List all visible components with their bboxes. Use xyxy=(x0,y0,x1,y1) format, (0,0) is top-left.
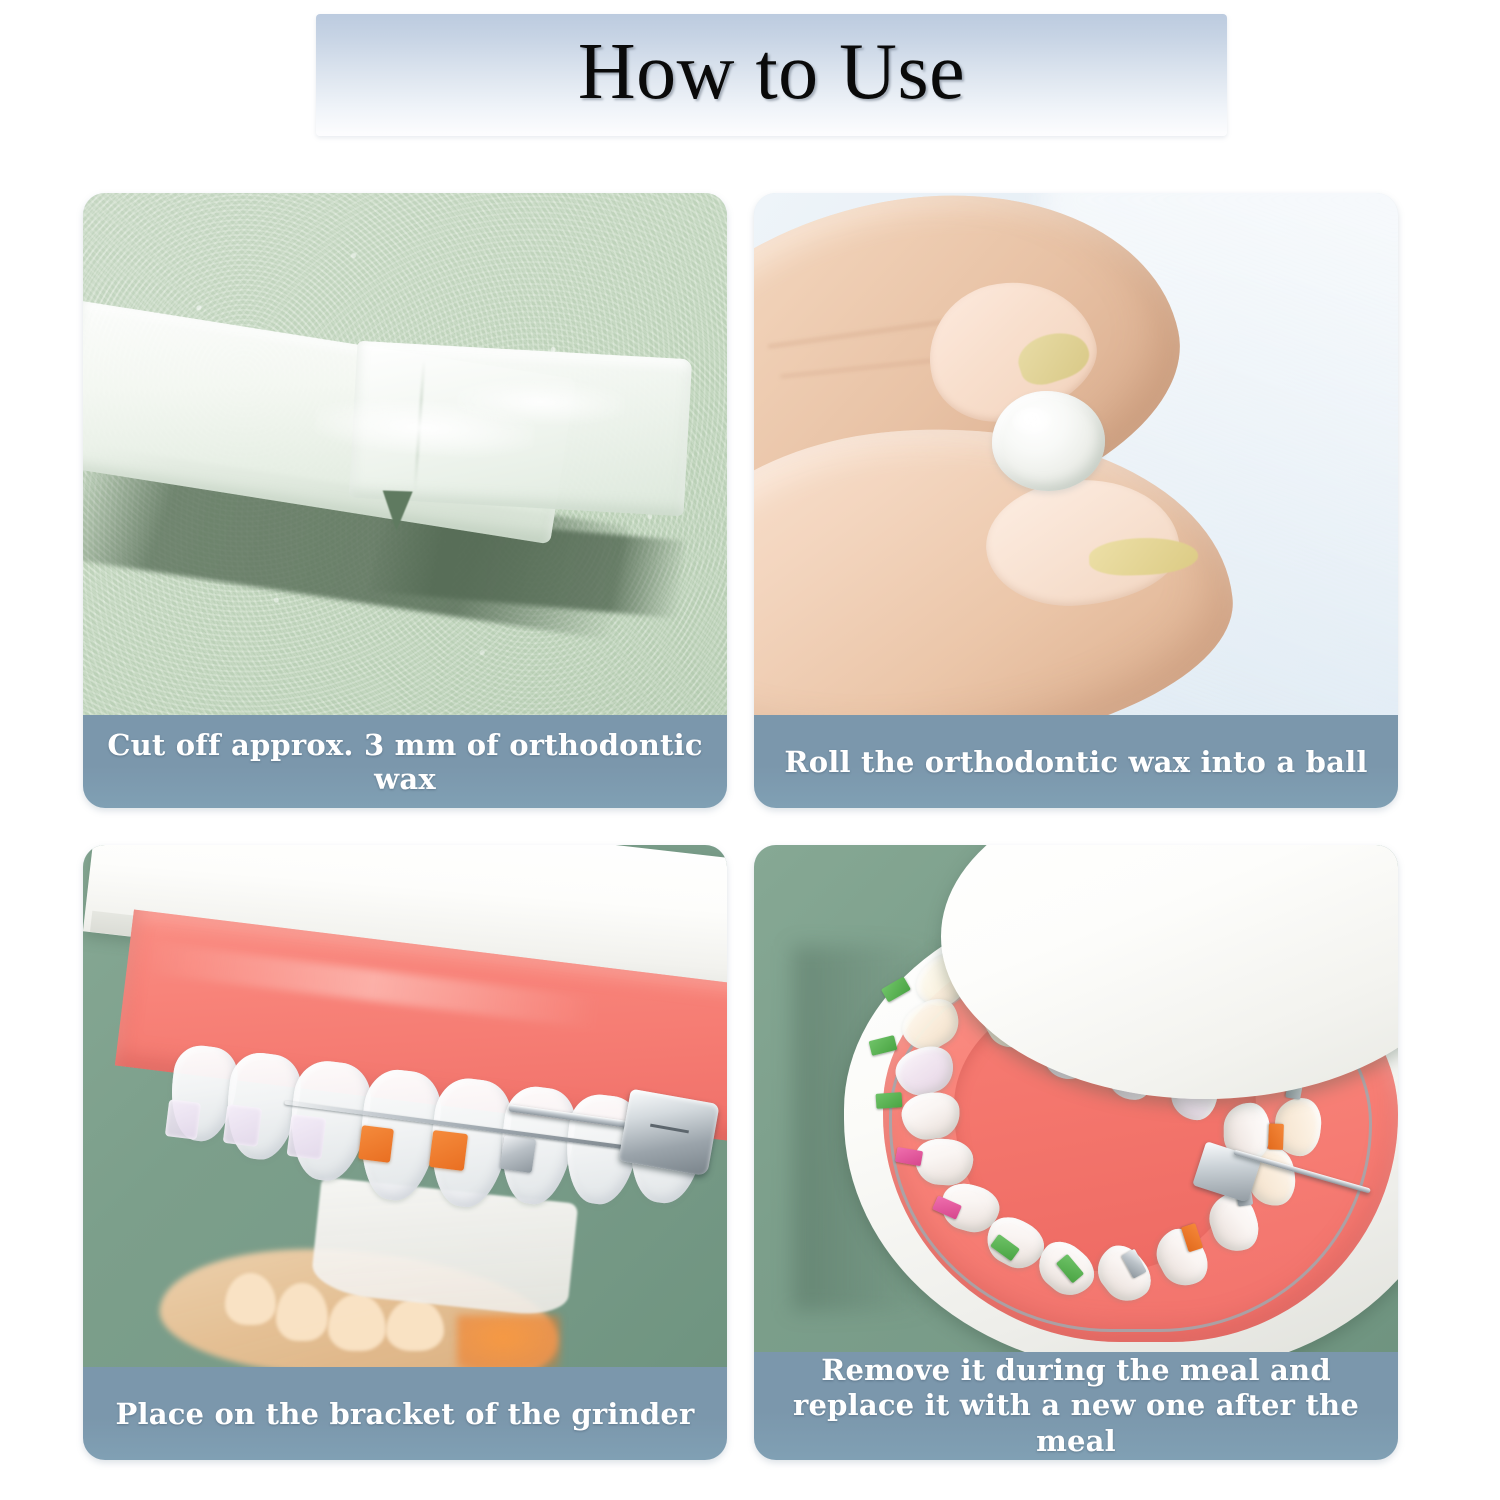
grinder-tool-head xyxy=(618,1088,719,1176)
lower-tooth xyxy=(386,1299,444,1351)
clear-bracket xyxy=(287,1114,327,1160)
clear-bracket xyxy=(222,1104,262,1147)
step-2-caption: Roll the orthodontic wax into a ball xyxy=(754,715,1398,808)
wax-ball-highlight xyxy=(1012,407,1054,436)
step-2-photo xyxy=(754,193,1398,715)
step-card-4: Remove it during the meal and replace it… xyxy=(754,845,1398,1460)
step-card-1: Cut off approx. 3 mm of orthodontic wax xyxy=(83,193,727,808)
orange-bracket xyxy=(1268,1123,1284,1149)
step-4-caption: Remove it during the meal and replace it… xyxy=(754,1352,1398,1460)
step-card-3: Place on the bracket of the grinder xyxy=(83,845,727,1460)
title-banner: How to Use xyxy=(316,14,1227,136)
step-2-caption-text: Roll the orthodontic wax into a ball xyxy=(784,745,1367,779)
step-4-caption-line-1: Remove it during the meal and xyxy=(754,1353,1398,1388)
step-1-caption: Cut off approx. 3 mm of orthodontic wax xyxy=(83,715,727,808)
step-1-photo xyxy=(83,193,727,715)
step-4-caption-line-2: replace it with a new one after the meal xyxy=(754,1388,1398,1459)
wax-gloss-highlight-2 xyxy=(456,378,625,426)
tooth xyxy=(913,1137,974,1187)
step-4-caption-block: Remove it during the meal and replace it… xyxy=(754,1353,1398,1459)
step-3-caption: Place on the bracket of the grinder xyxy=(83,1367,727,1460)
orange-bracket xyxy=(358,1125,394,1163)
orange-bracket xyxy=(429,1130,469,1171)
metal-bracket xyxy=(499,1135,536,1173)
orange-blur-blob xyxy=(457,1315,560,1367)
step-4-photo xyxy=(754,845,1398,1352)
step-1-caption-text: Cut off approx. 3 mm of orthodontic wax xyxy=(83,728,727,796)
step-3-caption-text: Place on the bracket of the grinder xyxy=(115,1397,694,1431)
tooth xyxy=(899,1090,963,1143)
wax-ball xyxy=(992,391,1105,490)
page-title: How to Use xyxy=(578,32,965,118)
tooth xyxy=(1203,1188,1264,1257)
tooth xyxy=(1088,1237,1160,1311)
clear-bracket xyxy=(165,1099,201,1139)
lower-tooth xyxy=(276,1283,328,1340)
green-bracket xyxy=(876,1093,903,1110)
wax-cut-notch xyxy=(382,490,413,531)
infographic-page: How to Use Cut off approx. 3 mm of ortho… xyxy=(0,0,1500,1500)
step-3-photo xyxy=(83,845,727,1367)
steps-grid: Cut off approx. 3 mm of orthodontic wax xyxy=(83,193,1398,1460)
step-card-2: Roll the orthodontic wax into a ball xyxy=(754,193,1398,808)
